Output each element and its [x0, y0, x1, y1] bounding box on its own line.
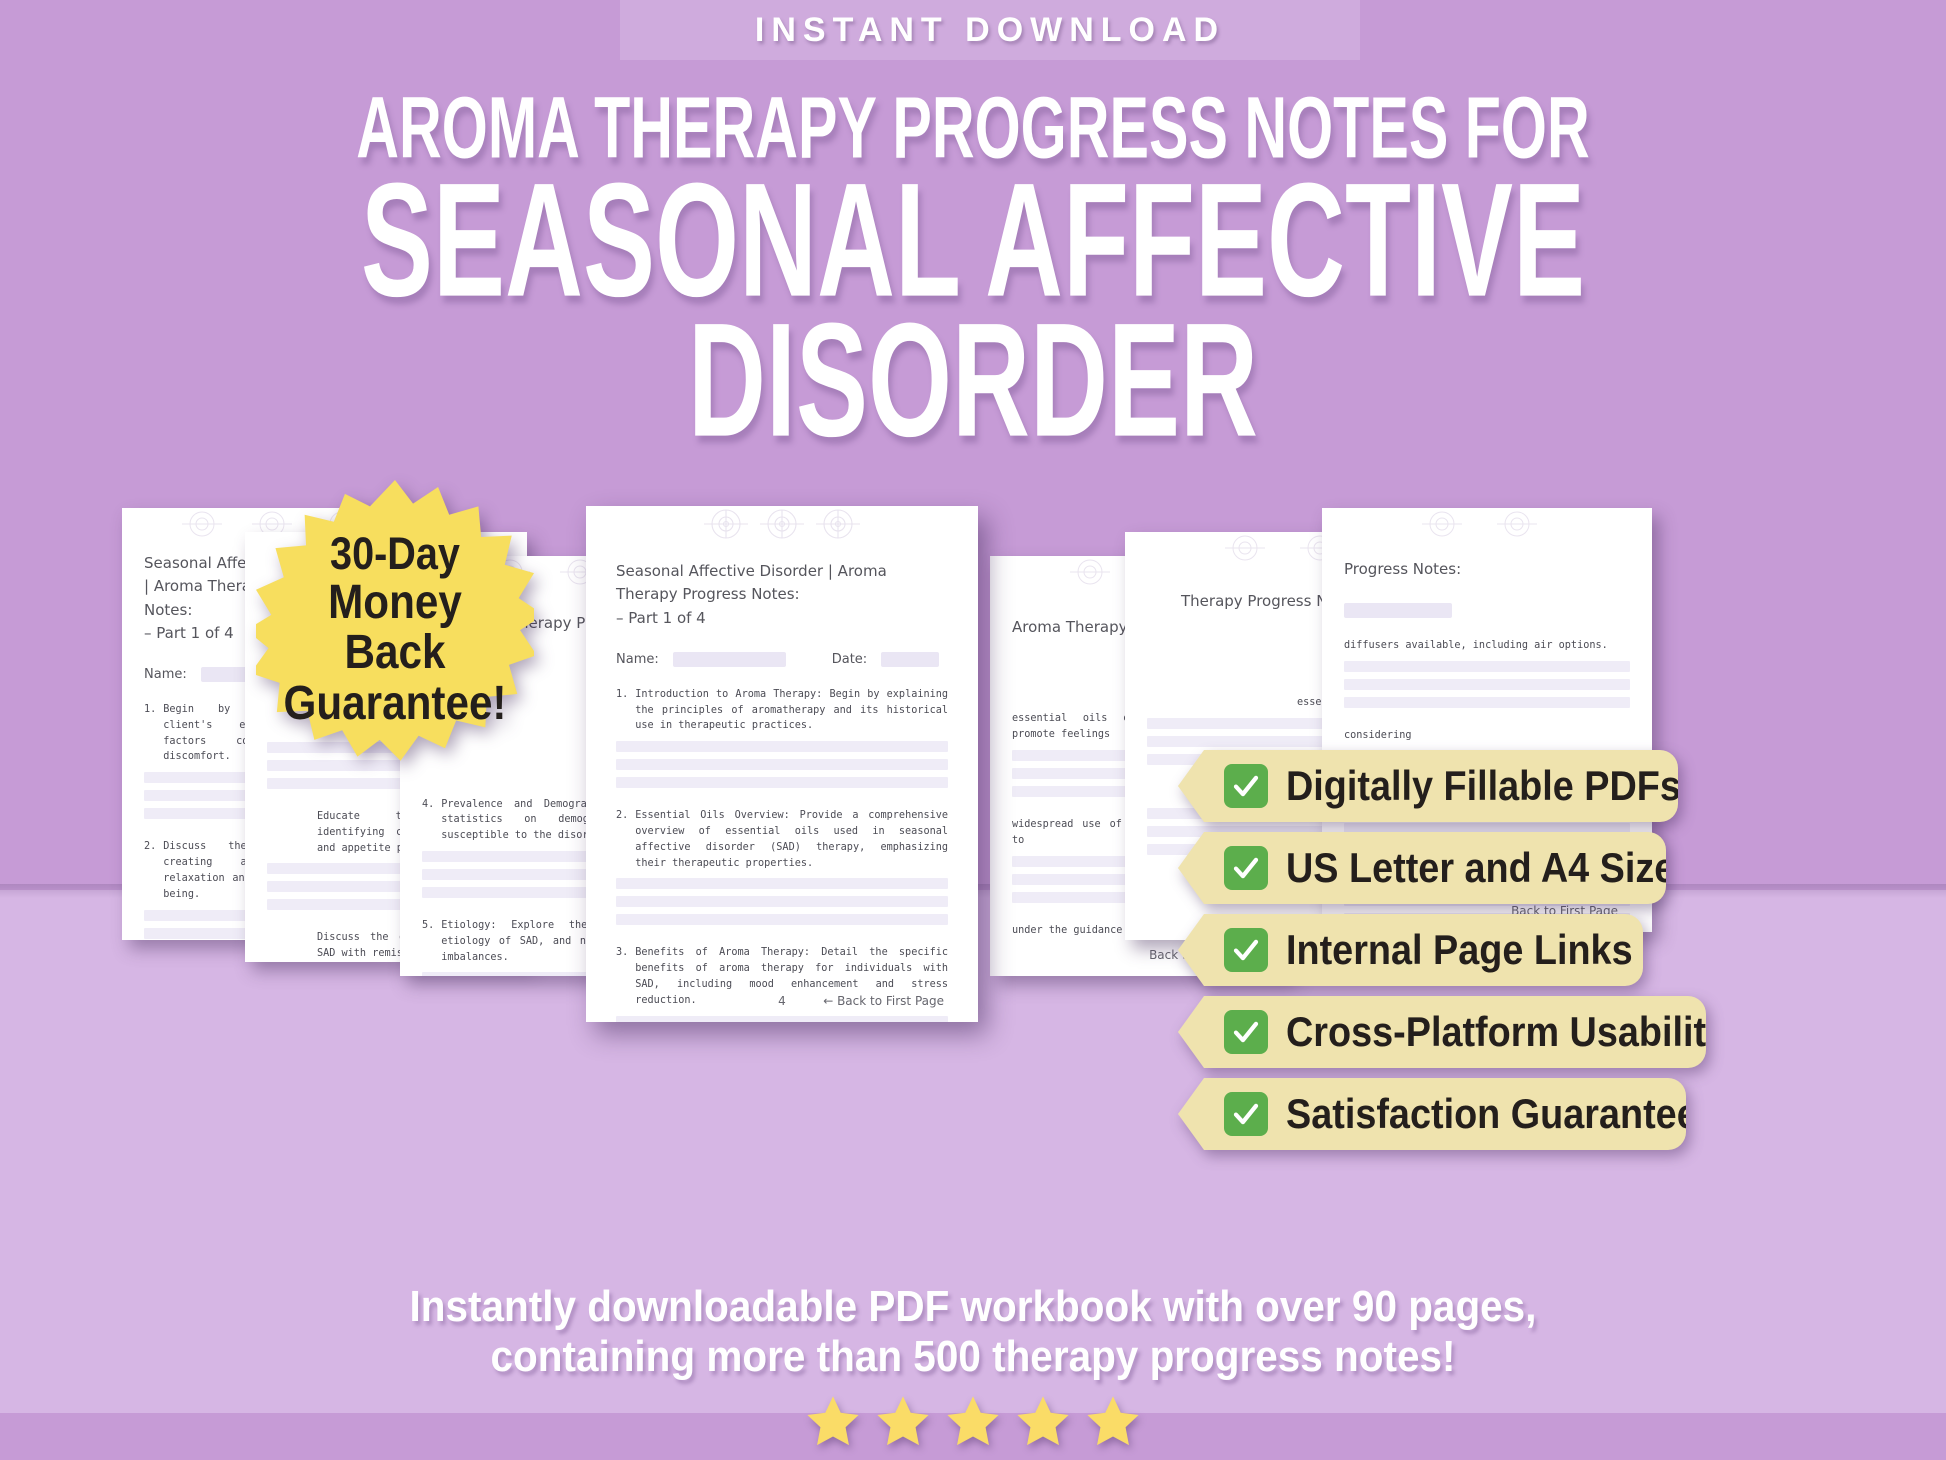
name-date-field-row[interactable]: Name: Date:	[616, 652, 948, 667]
answer-lines[interactable]	[1344, 661, 1630, 708]
tagline-line-1: Instantly downloadable PDF workbook with…	[78, 1282, 1868, 1332]
feature-label: Cross-Platform Usability	[1286, 1008, 1727, 1056]
date-label: Date:	[832, 652, 867, 667]
feature-list: Digitally Fillable PDFs US Letter and A4…	[1178, 750, 1918, 1160]
feature-badge[interactable]: US Letter and A4 Size	[1178, 832, 1918, 904]
check-icon	[1224, 846, 1268, 890]
name-field-row[interactable]	[1344, 603, 1630, 618]
date-input[interactable]	[881, 652, 939, 667]
check-icon	[1224, 1092, 1268, 1136]
feature-label: Digitally Fillable PDFs	[1286, 762, 1681, 810]
list-item: 1. Introduction to Aroma Therapy: Begin …	[616, 687, 948, 734]
list-item: 2. Essential Oils Overview: Provide a co…	[616, 808, 948, 871]
page-subheading: – Part 1 of 4	[616, 607, 948, 630]
page-number: 4	[586, 994, 978, 1008]
item-text: Introduction to Aroma Therapy: Begin by …	[635, 687, 948, 734]
star-icon	[874, 1392, 932, 1450]
item-number: 2.	[144, 839, 156, 902]
page-heading: Progress Notes:	[1344, 558, 1630, 581]
name-input[interactable]	[673, 652, 786, 667]
star-icon	[1084, 1392, 1142, 1450]
tagline-line-2: containing more than 500 therapy progres…	[78, 1332, 1868, 1382]
name-input[interactable]	[1344, 603, 1452, 618]
name-label: Name:	[144, 667, 187, 682]
guarantee-line-3: Guarantee!	[273, 679, 518, 730]
star-icon	[1014, 1392, 1072, 1450]
feature-label: Internal Page Links	[1286, 926, 1633, 974]
item-number: 4.	[422, 797, 434, 844]
feature-label: US Letter and A4 Size	[1286, 844, 1675, 892]
star-icon	[804, 1392, 862, 1450]
check-icon	[1224, 764, 1268, 808]
feature-badge[interactable]: Digitally Fillable PDFs	[1178, 750, 1918, 822]
guarantee-text: 30-Day Money Back Guarantee!	[256, 530, 534, 730]
feature-label: Satisfaction Guarantee	[1286, 1090, 1698, 1138]
item-number: 5.	[422, 918, 434, 965]
guarantee-line-1: 30-Day	[273, 530, 518, 578]
answer-lines[interactable]	[616, 1016, 948, 1022]
star-icon	[944, 1392, 1002, 1450]
check-icon	[1224, 928, 1268, 972]
title-line-3: DISORDER	[195, 306, 1752, 455]
feature-badge[interactable]: Cross-Platform Usability	[1178, 996, 1918, 1068]
item-text: diffusers available, including air optio…	[1344, 638, 1630, 654]
main-document-page[interactable]: Seasonal Affective Disorder | Aroma Ther…	[586, 506, 978, 1022]
star-rating	[0, 1392, 1946, 1450]
feature-badge[interactable]: Satisfaction Guarantee	[1178, 1078, 1918, 1150]
item-number: 1.	[616, 687, 628, 734]
guarantee-line-2: Money Back	[273, 578, 518, 680]
list-item: considering	[1344, 728, 1630, 744]
feature-badge[interactable]: Internal Page Links	[1178, 914, 1918, 986]
page-footer: 4 ← Back to First Page	[586, 994, 978, 1008]
item-number: 1.	[144, 702, 156, 765]
instant-download-banner: INSTANT DOWNLOAD	[620, 0, 1360, 60]
name-label: Name:	[616, 652, 659, 667]
tagline: Instantly downloadable PDF workbook with…	[0, 1282, 1946, 1382]
page-title: AROMA THERAPY PROGRESS NOTES FOR SEASONA…	[0, 88, 1946, 430]
page-heading: Seasonal Affective Disorder | Aroma Ther…	[616, 560, 948, 607]
item-text: considering	[1344, 728, 1630, 744]
money-back-guarantee-badge: 30-Day Money Back Guarantee!	[256, 480, 534, 780]
list-item: diffusers available, including air optio…	[1344, 638, 1630, 654]
poster-canvas: INSTANT DOWNLOAD AROMA THERAPY PROGRESS …	[0, 0, 1946, 1460]
instant-download-label: INSTANT DOWNLOAD	[755, 11, 1225, 50]
item-number: 2.	[616, 808, 628, 871]
check-icon	[1224, 1010, 1268, 1054]
answer-lines[interactable]	[616, 741, 948, 788]
item-text: Essential Oils Overview: Provide a compr…	[635, 808, 948, 871]
answer-lines[interactable]	[616, 878, 948, 925]
